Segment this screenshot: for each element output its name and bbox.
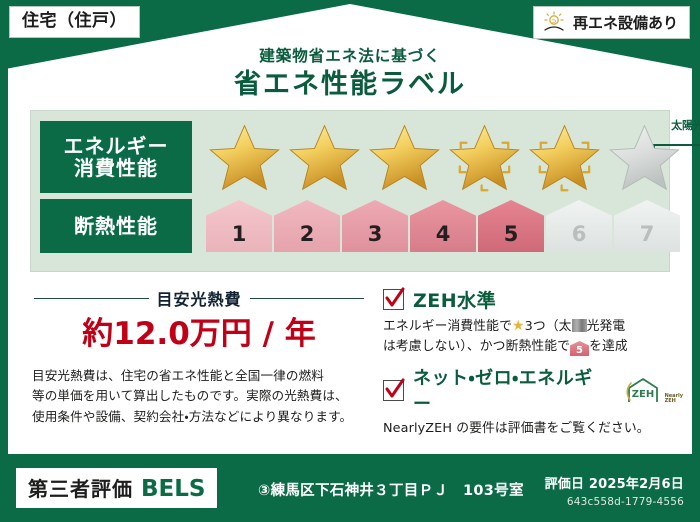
energy-label-line1: エネルギー (64, 135, 169, 157)
net-zero-energy-body: NearlyZEH の要件は評価書をご覧ください。 (383, 419, 683, 438)
net-zero-energy-title: ネット・ゼロ・エネルギー (413, 364, 610, 416)
zeh-body-b: 3つ（太 (525, 319, 572, 334)
evaluation-date: 評価日 2025年2月6日 (545, 473, 684, 492)
insulation-grade-6: 6 (546, 200, 612, 252)
zeh-house-logo: ZEH Nearly ZEH (623, 376, 683, 404)
star-icon-4 (446, 120, 523, 194)
insulation-label-line1: 断熱性能 (74, 215, 158, 237)
svg-text:⊃: ⊃ (551, 18, 556, 25)
zeh-body-a: エネルギー消費性能で (383, 319, 512, 334)
insulation-grade-2: 2 (274, 200, 340, 252)
cost-heading-label: 目安光熱費 (157, 286, 242, 310)
mini-star-icon: ★ (512, 318, 525, 334)
performance-panel: エネルギー 消費性能 太陽光発電(自家消費)分 (30, 110, 670, 272)
energy-performance-label: 住宅（住戸） ⊃ 再エネ設備あり 建築物省エネ法に基づく 省エネ性能ラベル (0, 0, 700, 522)
property-address: ③練馬区下石神井３丁目ＰＪ 103号室 (258, 479, 524, 500)
insulation-performance-label-box: 断熱性能 (40, 199, 192, 253)
cost-desc-line2: 等の単価を用いて算出したものです。実際の光熱費は、 (32, 386, 372, 406)
zeh-body-e: を達成 (589, 339, 628, 354)
zeh-body-d: は考慮しない）、かつ断熱性能で (383, 339, 570, 354)
insulation-performance-row: 断熱性能 1 2 3 4 5 6 7 (40, 199, 680, 253)
page-title: 省エネ性能ラベル (0, 62, 700, 101)
zeh-standard-checkbox[interactable] (383, 289, 404, 310)
zeh-standard-title: ZEH水準 (413, 286, 496, 313)
svg-text:ZEH: ZEH (631, 389, 653, 400)
bels-logo: BELS (141, 476, 205, 502)
net-zero-energy-row: ネット・ゼロ・エネルギー ZEH Nearly ZEH (383, 364, 683, 416)
third-party-evaluation-tag: 第三者評価 BELS (16, 468, 217, 508)
cost-rule-left (34, 298, 149, 299)
insulation-grade-3: 3 (342, 200, 408, 252)
star-icon-6-empty (606, 120, 683, 194)
cost-desc-line3: 使用条件や設備、契約会社・方法などにより異なります。 (32, 407, 372, 427)
energy-performance-row: エネルギー 消費性能 太陽光発電(自家消費)分 (40, 120, 683, 194)
zeh-section: ZEH水準 エネルギー消費性能で★3つ（太光発電 は考慮しない）、かつ断熱性能で… (383, 286, 683, 438)
insulation-grade-5: 5 (478, 200, 544, 252)
insulation-grade-scale: 1 2 3 4 5 6 7 (206, 200, 680, 252)
star-icon-3 (366, 120, 443, 194)
cost-desc-line1: 目安光熱費は、住宅の省エネ性能と全国一律の燃料 (32, 366, 372, 386)
insulation-grade-1: 1 (206, 200, 272, 252)
cost-rule-right (250, 298, 365, 299)
zeh-logo-subtext: Nearly ZEH (665, 394, 683, 405)
zeh-standard-row: ZEH水準 (383, 286, 683, 313)
zeh-logo-sub2: ZEH (665, 398, 676, 404)
zeh-body-c: 光発電 (587, 319, 626, 334)
star-icon-5 (526, 120, 603, 194)
utility-cost-description: 目安光熱費は、住宅の省エネ性能と全国一律の燃料 等の単価を用いて算出したものです… (32, 366, 372, 427)
renewable-tag-label: 再エネ設備あり (573, 12, 678, 33)
insulation-grade-7: 7 (614, 200, 680, 252)
star-icon-1 (206, 120, 283, 194)
renewable-equipment-tag: ⊃ 再エネ設備あり (533, 6, 690, 39)
star-icon-2 (286, 120, 363, 194)
redacted-character (572, 319, 587, 332)
energy-performance-label-box: エネルギー 消費性能 (40, 121, 192, 193)
third-party-label: 第三者評価 (28, 473, 133, 502)
certificate-id: 643c558d-1779-4556 (567, 496, 684, 508)
building-type-tag: 住宅（住戸） (9, 6, 140, 38)
sun-icon: ⊃ (542, 11, 566, 33)
energy-label-line2: 消費性能 (74, 157, 158, 179)
net-zero-energy-checkbox[interactable] (383, 380, 404, 401)
mini-house-grade-icon: 5 (570, 341, 589, 356)
insulation-grade-4: 4 (410, 200, 476, 252)
zeh-standard-body: エネルギー消費性能で★3つ（太光発電 は考慮しない）、かつ断熱性能で5を達成 (383, 316, 683, 356)
energy-star-rating: 太陽光発電(自家消費)分 (206, 120, 683, 194)
utility-cost-value: 約12.0万円 / 年 (34, 308, 364, 353)
utility-cost-heading: 目安光熱費 (34, 286, 364, 310)
